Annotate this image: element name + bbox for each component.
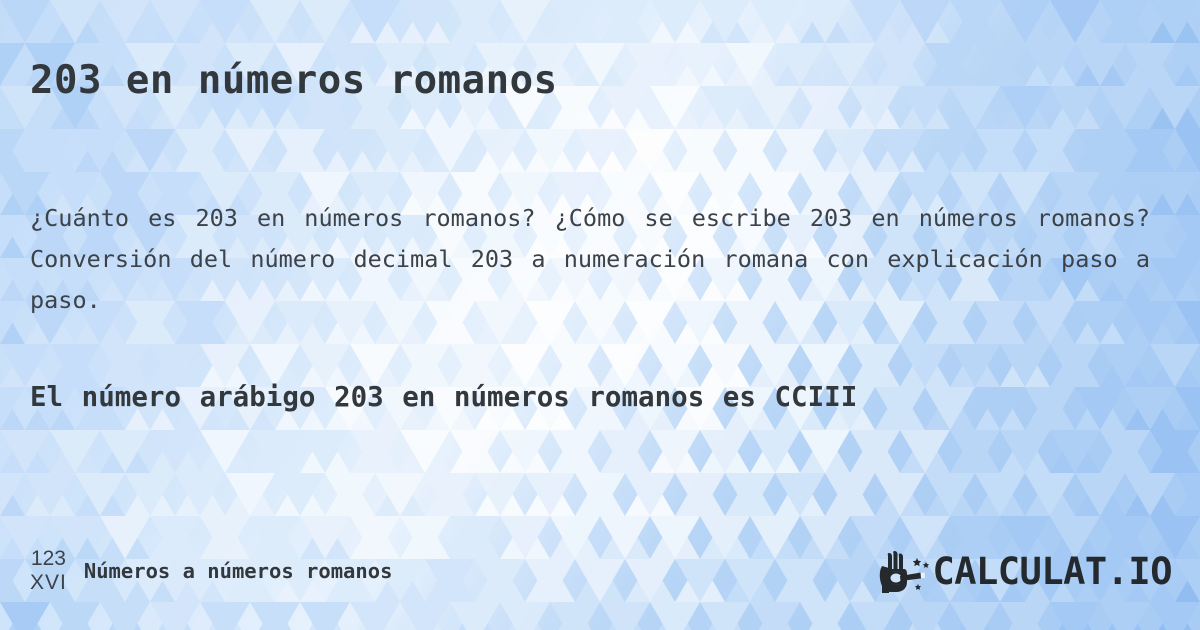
site-brand-left[interactable]: 123 XVI Números a números romanos (30, 540, 392, 602)
page-title: 203 en números romanos (30, 58, 558, 104)
site-brand-left-label: Números a números romanos (84, 559, 393, 583)
answer-statement: El número arábigo 203 en números romanos… (30, 374, 1090, 421)
fraction-numerator: 123 (31, 547, 66, 571)
card-content: 203 en números romanos ¿Cuánto es 203 en… (0, 0, 1200, 630)
hand-magic-wand-icon (874, 549, 930, 595)
site-brand-right-label: CALCULAT.IO (932, 552, 1172, 592)
intro-paragraph: ¿Cuánto es 203 en números romanos? ¿Cómo… (30, 198, 1150, 321)
og-image-card: 203 en números romanos ¿Cuánto es 203 en… (0, 0, 1200, 630)
site-brand-right[interactable]: CALCULAT.IO (874, 544, 1172, 600)
footer: 123 XVI Números a números romanos (0, 540, 1200, 606)
fraction-123-xvi-icon: 123 XVI (30, 547, 67, 595)
fraction-denominator: XVI (30, 571, 67, 595)
